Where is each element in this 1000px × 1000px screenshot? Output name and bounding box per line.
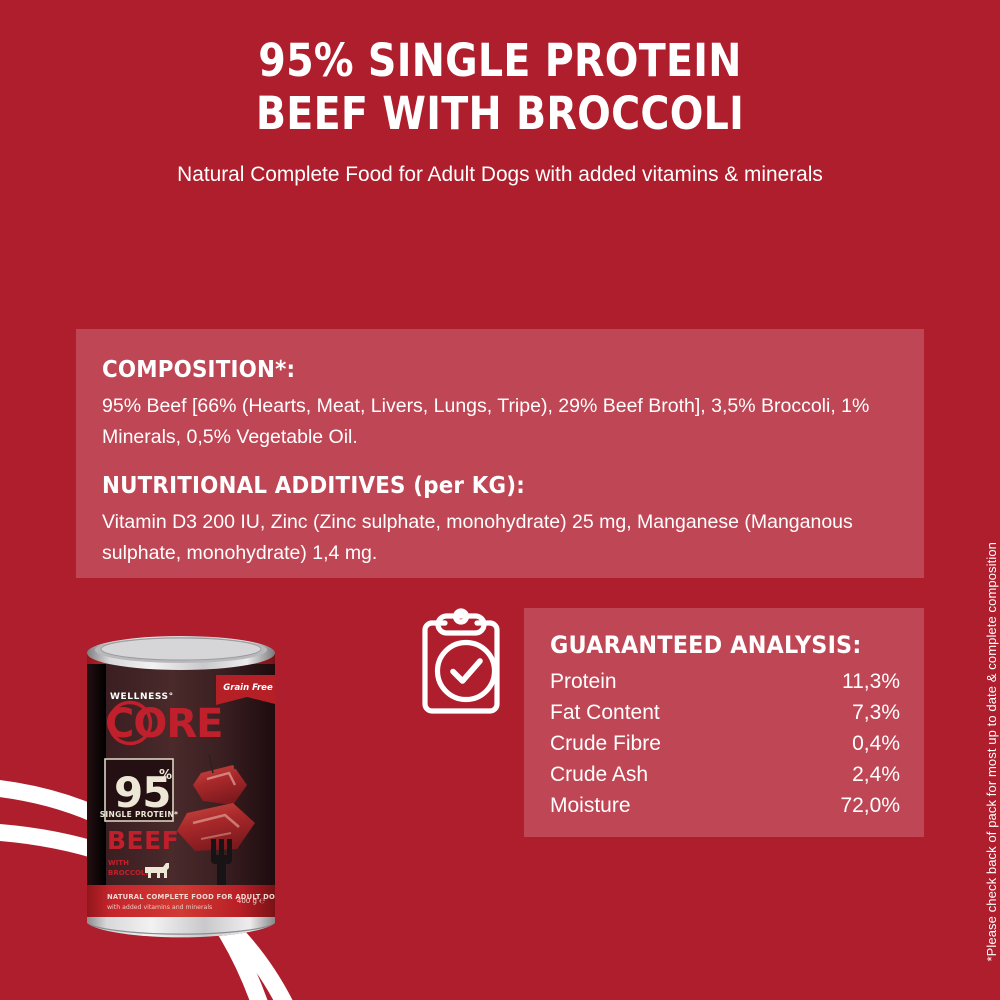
analysis-label: Crude Ash	[550, 759, 648, 790]
additives-body: Vitamin D3 200 IU, Zinc (Zinc sulphate, …	[102, 507, 898, 569]
analysis-value: 2,4%	[852, 759, 900, 790]
composition-body: 95% Beef [66% (Hearts, Meat, Livers, Lun…	[102, 391, 898, 453]
guaranteed-analysis-panel: GUARANTEED ANALYSIS: Protein 11,3% Fat C…	[524, 608, 924, 837]
page-title-line-2: BEEF WITH BROCCOLI	[60, 87, 940, 140]
analysis-label: Protein	[550, 666, 617, 697]
can-footer-line2: with added vitamins and minerals	[107, 904, 212, 911]
can-flavour-label: BEEF	[107, 826, 179, 855]
analysis-row: Protein 11,3%	[550, 666, 900, 697]
additives-heading: NUTRITIONAL ADDITIVES (per KG):	[102, 471, 842, 501]
analysis-row: Fat Content 7,3%	[550, 697, 900, 728]
composition-heading: COMPOSITION*:	[102, 355, 842, 385]
analysis-row: Crude Ash 2,4%	[550, 759, 900, 790]
page-title-line-1: 95% SINGLE PROTEIN	[60, 34, 940, 87]
can-badge-sub: SINGLE PROTEIN*	[100, 810, 179, 819]
page-subtitle: Natural Complete Food for Adult Dogs wit…	[15, 160, 985, 188]
footnote-text: *Please check back of pack for most up t…	[985, 542, 998, 962]
can-weight-label: 400 g ℮	[237, 897, 265, 905]
header: 95% SINGLE PROTEIN BEEF WITH BROCCOLI Na…	[0, 34, 1000, 188]
can-badge-percent: %	[159, 768, 172, 783]
analysis-row: Moisture 72,0%	[550, 790, 900, 821]
analysis-label: Moisture	[550, 790, 631, 821]
composition-panel: COMPOSITION*: 95% Beef [66% (Hearts, Mea…	[76, 329, 924, 578]
analysis-label: Crude Fibre	[550, 728, 661, 759]
can-flavour-sub-line1: WITH	[108, 859, 129, 867]
can-grain-free-label: Grain Free	[223, 683, 273, 693]
can-brand-label: CORE	[105, 701, 222, 747]
analysis-value: 11,3%	[842, 666, 900, 697]
can-flavour-sub-line2: BROCCOLI	[108, 869, 148, 877]
analysis-value: 0,4%	[852, 728, 900, 759]
clipboard-check-icon	[408, 608, 514, 714]
analysis-value: 72,0%	[840, 790, 900, 821]
analysis-value: 7,3%	[852, 697, 900, 728]
analysis-row: Crude Fibre 0,4%	[550, 728, 900, 759]
analysis-label: Fat Content	[550, 697, 660, 728]
analysis-heading: GUARANTEED ANALYSIS:	[550, 630, 876, 660]
product-can-image: Grain Free WELLNESS° CORE 95 % SINGLE PR…	[83, 627, 279, 947]
